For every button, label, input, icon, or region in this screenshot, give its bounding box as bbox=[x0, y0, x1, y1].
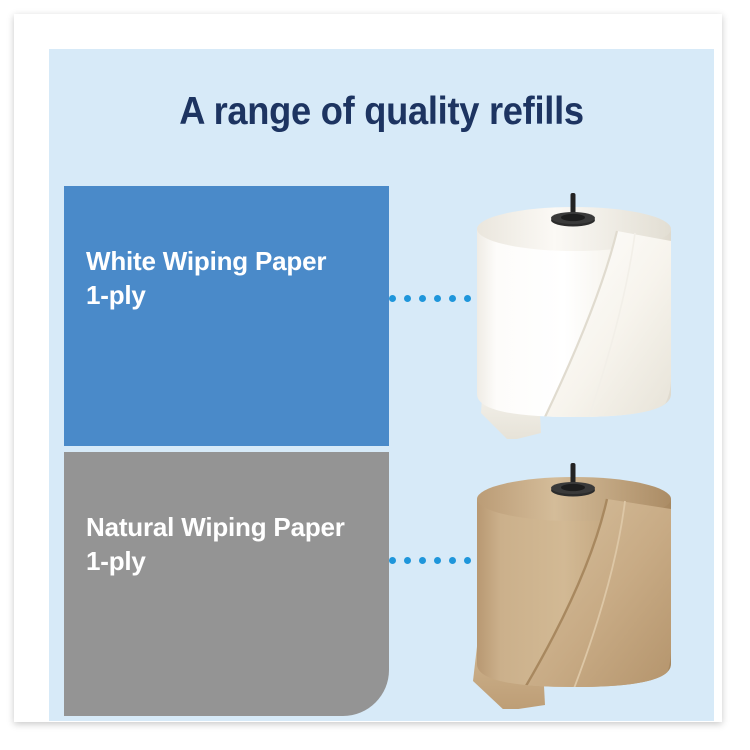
product-label-white-wiping-paper: White Wiping Paper 1-ply bbox=[86, 244, 389, 312]
page-title: A range of quality refills bbox=[72, 90, 690, 134]
product-panel-white-wiping-paper: White Wiping Paper 1-ply bbox=[64, 186, 389, 446]
dot-icon bbox=[419, 295, 426, 302]
product-label-natural-wiping-paper: Natural Wiping Paper 1-ply bbox=[86, 510, 389, 578]
dot-icon bbox=[434, 557, 441, 564]
product-infographic-card: A range of quality refills White Wiping … bbox=[0, 0, 750, 750]
dot-icon bbox=[389, 557, 396, 564]
dot-icon bbox=[434, 295, 441, 302]
card-frame: A range of quality refills White Wiping … bbox=[14, 14, 722, 722]
product-image-white-wiping-paper bbox=[449, 189, 699, 439]
infographic-canvas: A range of quality refills White Wiping … bbox=[49, 49, 714, 721]
product-panel-natural-wiping-paper: Natural Wiping Paper 1-ply bbox=[64, 452, 389, 716]
product-image-natural-wiping-paper bbox=[449, 459, 699, 709]
dot-icon bbox=[404, 557, 411, 564]
dot-icon bbox=[389, 295, 396, 302]
dot-icon bbox=[404, 295, 411, 302]
dot-icon bbox=[419, 557, 426, 564]
